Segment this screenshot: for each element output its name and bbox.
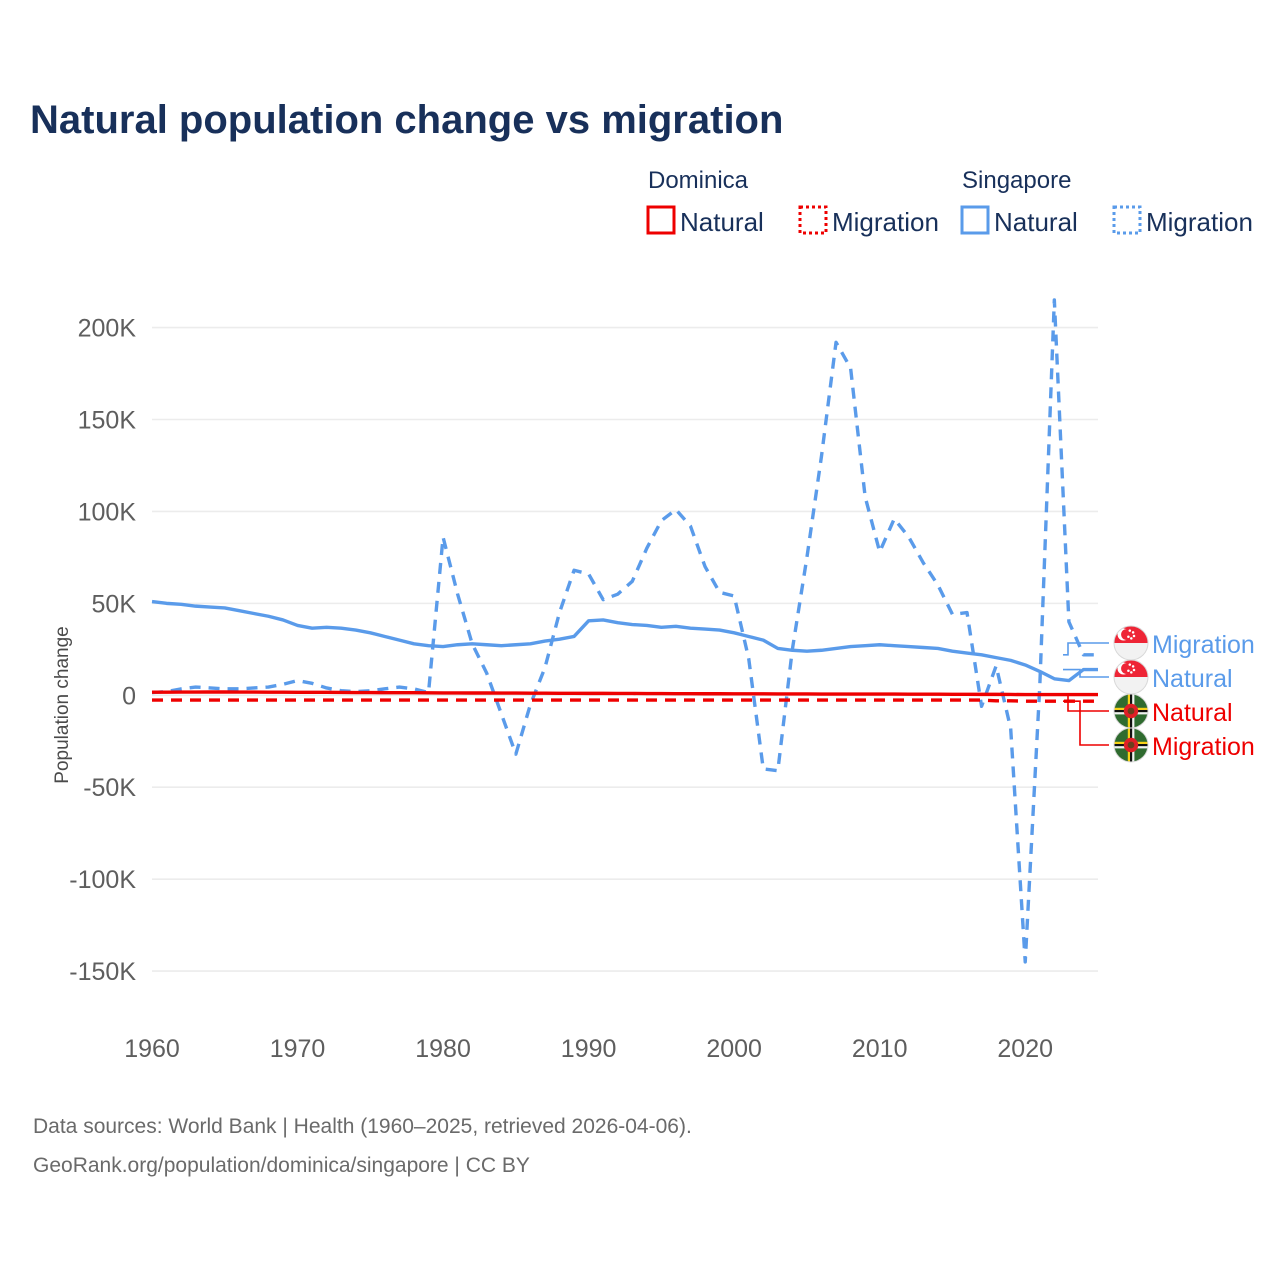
legend-group-title: Singapore	[962, 167, 1071, 194]
y-axis-tick: 0	[122, 682, 136, 710]
y-axis-title: Population change	[52, 626, 73, 783]
footer-attribution: GeoRank.org/population/dominica/singapor…	[33, 1154, 530, 1177]
x-axis-tick: 2000	[706, 1035, 762, 1063]
y-axis-tick: -50K	[83, 774, 136, 802]
singapore-flag-icon	[1114, 660, 1148, 694]
end-label-text: Migration	[1152, 631, 1255, 659]
footer-data-sources: Data sources: World Bank | Health (1960–…	[33, 1115, 692, 1138]
y-axis-tick: -100K	[69, 866, 136, 894]
population-change-chart: Natural population change vs migration D…	[0, 0, 1280, 1280]
x-axis-tick: 1970	[270, 1035, 326, 1063]
x-axis-tick: 2020	[997, 1035, 1053, 1063]
dominica-flag-icon	[1114, 694, 1148, 728]
legend-label-migration[interactable]: Migration	[832, 207, 939, 237]
legend-swatch-migration[interactable]	[800, 207, 826, 233]
legend-swatch-natural[interactable]	[962, 207, 988, 233]
legend-label-natural[interactable]: Natural	[680, 207, 764, 237]
chart-container: Natural population change vs migration D…	[0, 0, 1280, 1280]
legend-label-migration[interactable]: Migration	[1146, 207, 1253, 237]
y-axis-tick: 50K	[92, 590, 137, 618]
legend-swatch-migration[interactable]	[1114, 207, 1140, 233]
y-axis-tick: 100K	[78, 498, 137, 526]
y-axis-tick: -150K	[69, 958, 136, 986]
legend-group-title: Dominica	[648, 167, 749, 194]
x-axis-tick: 1980	[415, 1035, 471, 1063]
dominica-flag-icon	[1114, 728, 1148, 762]
end-label-text: Natural	[1152, 699, 1233, 727]
y-axis-tick: 150K	[78, 407, 137, 435]
x-axis-tick: 1960	[124, 1035, 180, 1063]
end-label-text: Natural	[1152, 665, 1233, 693]
x-axis-tick: 1990	[561, 1035, 617, 1063]
legend-swatch-natural[interactable]	[648, 207, 674, 233]
singapore-flag-icon	[1114, 626, 1148, 660]
legend-label-natural[interactable]: Natural	[994, 207, 1078, 237]
y-axis-tick: 200K	[78, 315, 137, 343]
page-title: Natural population change vs migration	[30, 98, 783, 142]
end-label-text: Migration	[1152, 733, 1255, 761]
page-background	[0, 0, 1280, 1280]
x-axis-tick: 2010	[852, 1035, 908, 1063]
